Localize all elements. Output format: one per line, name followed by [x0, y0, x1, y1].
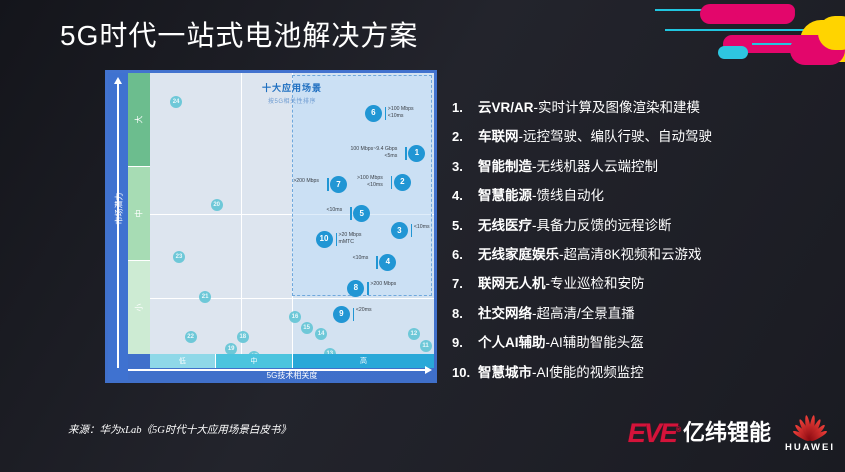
list-item-desc: -AI辅助智能头盔	[546, 335, 644, 350]
list-item-name: 云VR/AR	[478, 100, 534, 115]
note-connector-6	[385, 107, 387, 120]
list-item-name: 智慧城市	[478, 365, 532, 380]
bubble-note-10: >20 MbpsmMTC	[339, 232, 362, 246]
list-item-text: 无线医疗-具备力反馈的远程诊断	[478, 214, 672, 234]
list-item: 4.智慧能源-馈线自动化	[452, 184, 832, 204]
list-item-number: 9.	[452, 335, 478, 350]
x-category-low: 低	[150, 354, 216, 368]
list-item-desc: -具备力反馈的远程诊断	[532, 218, 672, 233]
list-item-text: 智慧能源-馈线自动化	[478, 184, 604, 204]
list-item-number: 4.	[452, 188, 478, 203]
data-bubble-15: 15	[301, 322, 313, 334]
list-item: 8.社交网络-超高清/全景直播	[452, 302, 832, 322]
list-item-name: 联网无人机	[478, 276, 546, 291]
list-item-name: 社交网络	[478, 306, 532, 321]
y-category-mid-label: 中	[134, 210, 145, 218]
note-connector-10	[336, 233, 338, 246]
x-category-band: 低 中 高	[150, 354, 434, 368]
list-item-name: 车联网	[478, 129, 519, 144]
list-item: 2.车联网-远控驾驶、编队行驶、自动驾驶	[452, 125, 832, 145]
list-item-desc: -实时计算及图像渲染和建模	[534, 100, 701, 115]
y-category-low: 小	[128, 261, 150, 354]
list-item-desc: -AI使能的视频监控	[532, 365, 644, 380]
data-bubble-16: 16	[289, 311, 301, 323]
list-item-text: 智能制造-无线机器人云端控制	[478, 155, 658, 175]
list-item-text: 云VR/AR-实时计算及图像渲染和建模	[478, 96, 700, 116]
scenario-list: 1.云VR/AR-实时计算及图像渲染和建模2.车联网-远控驾驶、编队行驶、自动驾…	[452, 96, 832, 390]
list-item-text: 个人AI辅助-AI辅助智能头盔	[478, 331, 644, 351]
huawei-logo: HUAWEI	[785, 414, 835, 453]
list-item-text: 无线家庭娱乐-超高清8K视频和云游戏	[478, 243, 702, 263]
y-category-high: 大	[128, 73, 150, 167]
y-category-band: 大 中 小	[128, 73, 150, 354]
list-item-number: 1.	[452, 100, 478, 115]
note-connector-8	[367, 282, 369, 295]
y-category-high-label: 大	[134, 116, 145, 124]
bubble-note-3: <10ms	[414, 224, 430, 231]
bubble-note-7: >200 Mbps	[293, 178, 319, 185]
page-title: 5G时代一站式电池解决方案	[60, 14, 418, 54]
data-bubble-23: 23	[173, 251, 185, 263]
list-item-number: 5.	[452, 218, 478, 233]
grid-line-h2	[150, 298, 434, 299]
note-connector-3	[411, 224, 413, 237]
note-connector-7	[327, 178, 329, 191]
data-bubble-2: 2	[394, 174, 411, 191]
list-item-desc: -超高清/全景直播	[532, 306, 635, 321]
chart-inner: 市场潜力 大 中 小 十大应用场景 按5G相关性排序 1100 Mbps~9.4…	[108, 73, 434, 380]
list-item: 9.个人AI辅助-AI辅助智能头盔	[452, 331, 832, 351]
x-category-high: 高	[293, 354, 434, 368]
list-item-name: 个人AI辅助	[478, 335, 546, 350]
list-item-desc: -馈线自动化	[532, 188, 604, 203]
list-item-text: 联网无人机-专业巡检和安防	[478, 272, 645, 292]
chart-header: 十大应用场景 按5G相关性排序	[150, 81, 434, 105]
data-bubble-6: 6	[365, 105, 382, 122]
bubble-note-9: <20ms	[356, 307, 372, 314]
deco-pill-2	[735, 4, 795, 18]
deco-yellow-2	[818, 16, 845, 50]
note-connector-4	[376, 256, 378, 269]
data-bubble-11: 11	[420, 340, 432, 352]
y-axis-bar: 市场潜力	[108, 73, 128, 380]
data-bubble-21: 21	[199, 291, 211, 303]
note-connector-2	[391, 176, 393, 189]
deco-yellow-1	[800, 20, 845, 62]
list-item: 6.无线家庭娱乐-超高清8K视频和云游戏	[452, 243, 832, 263]
list-item-number: 8.	[452, 306, 478, 321]
note-connector-9	[353, 308, 355, 321]
data-bubble-9: 9	[333, 306, 350, 323]
list-item-text: 车联网-远控驾驶、编队行驶、自动驾驶	[478, 125, 712, 145]
list-item-number: 7.	[452, 276, 478, 291]
deco-line-2	[665, 29, 815, 31]
logo-row: EVE® 亿纬锂能 HUAWEI	[628, 405, 835, 461]
list-item-number: 6.	[452, 247, 478, 262]
bubble-note-5: <10ms	[326, 207, 342, 214]
x-category-mid: 中	[216, 354, 293, 368]
plot-area: 十大应用场景 按5G相关性排序 1100 Mbps~9.4 Gbps<5ms2>…	[150, 73, 434, 354]
bubble-note-4: <10ms	[353, 255, 369, 262]
deco-pill-3	[723, 35, 833, 53]
source-note: 来源：华为xLab《5G时代十大应用场景白皮书》	[68, 422, 291, 437]
list-item-number: 3.	[452, 159, 478, 174]
list-item: 5.无线医疗-具备力反馈的远程诊断	[452, 214, 832, 234]
list-item-name: 无线家庭娱乐	[478, 247, 559, 262]
x-axis-title: 5G技术相关度	[150, 370, 434, 381]
list-item-name: 智慧能源	[478, 188, 532, 203]
list-item-desc: -远控驾驶、编队行驶、自动驾驶	[519, 129, 713, 144]
chart-panel: 市场潜力 大 中 小 十大应用场景 按5G相关性排序 1100 Mbps~9.4…	[105, 70, 437, 383]
bubble-note-8: >200 Mbps	[370, 281, 396, 288]
list-item: 3.智能制造-无线机器人云端控制	[452, 155, 832, 175]
y-axis-title: 市场潜力	[114, 181, 125, 237]
data-bubble-19: 19	[225, 343, 237, 355]
bubble-note-6: >100 Mbps<10ms	[388, 106, 414, 120]
eve-logo: EVE® 亿纬锂能	[628, 420, 771, 447]
list-item-text: 智慧城市-AI使能的视频监控	[478, 361, 644, 381]
deco-line-3	[752, 43, 845, 45]
eve-registered-icon: ®	[676, 427, 679, 434]
data-bubble-24: 24	[170, 96, 182, 108]
deco-line-1	[655, 9, 765, 11]
list-item-number: 2.	[452, 129, 478, 144]
deco-pill-1	[700, 4, 795, 24]
data-bubble-18: 18	[237, 331, 249, 343]
eve-mark-text: EVE	[628, 418, 676, 448]
list-item: 7.联网无人机-专业巡检和安防	[452, 272, 832, 292]
list-item: 1.云VR/AR-实时计算及图像渲染和建模	[452, 96, 832, 116]
eve-chinese-name: 亿纬锂能	[683, 422, 771, 444]
list-item-name: 智能制造	[478, 159, 532, 174]
list-item-text: 社交网络-超高清/全景直播	[478, 302, 635, 322]
data-bubble-10: 10	[316, 231, 333, 248]
list-item-desc: -超高清8K视频和云游戏	[559, 247, 702, 262]
chart-title: 十大应用场景	[150, 81, 434, 94]
y-category-low-label: 小	[134, 304, 145, 312]
list-item-number: 10.	[452, 365, 478, 380]
list-item: 10.智慧城市-AI使能的视频监控	[452, 361, 832, 381]
note-connector-1	[405, 147, 407, 160]
list-item-desc: -无线机器人云端控制	[532, 159, 658, 174]
bubble-note-1: 100 Mbps~9.4 Gbps<5ms	[350, 146, 397, 160]
data-bubble-12: 12	[408, 328, 420, 340]
slide-canvas: 5G时代一站式电池解决方案 市场潜力 大 中 小 十	[0, 0, 845, 472]
data-bubble-20: 20	[211, 199, 223, 211]
y-category-mid: 中	[128, 167, 150, 261]
list-item-desc: -专业巡检和安防	[546, 276, 645, 291]
eve-wordmark: EVE®	[628, 420, 679, 447]
list-item-name: 无线医疗	[478, 218, 532, 233]
chart-subtitle: 按5G相关性排序	[150, 96, 434, 105]
huawei-wordmark: HUAWEI	[785, 442, 835, 453]
data-bubble-22: 22	[185, 331, 197, 343]
deco-cyan-1	[718, 46, 748, 59]
bubble-note-2: >100 Mbps<10ms	[357, 175, 383, 189]
huawei-flower-icon	[787, 414, 833, 440]
deco-pill-4	[790, 35, 845, 65]
note-connector-5	[350, 207, 352, 220]
